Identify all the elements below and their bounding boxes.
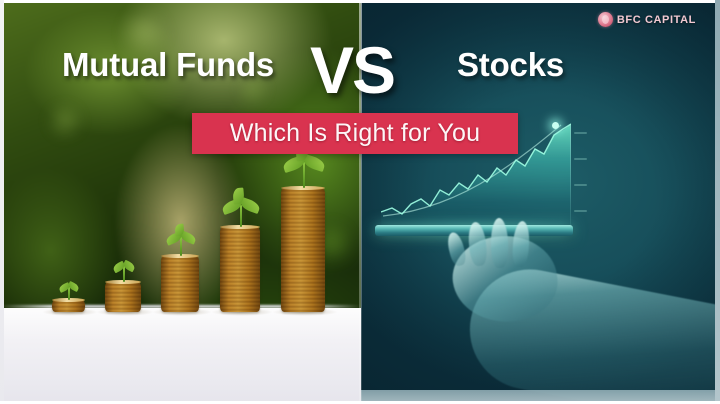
brand-name: BFC CAPITAL bbox=[617, 14, 696, 26]
chart-tick bbox=[574, 158, 587, 160]
frame-top bbox=[0, 0, 720, 3]
seedling-icon bbox=[58, 278, 80, 300]
brand-emblem-icon bbox=[598, 12, 613, 27]
coin-stack bbox=[105, 282, 141, 312]
seedling-icon bbox=[166, 224, 196, 256]
seedling-icon bbox=[112, 256, 136, 282]
comparison-banner: Mutual Funds VS Stocks Which Is Right fo… bbox=[0, 0, 720, 404]
brand-logo[interactable]: BFC CAPITAL bbox=[598, 12, 696, 27]
coin-stack bbox=[52, 300, 85, 312]
white-table-surface bbox=[0, 308, 361, 404]
mutual-funds-panel bbox=[0, 0, 361, 404]
coin-stack bbox=[161, 256, 199, 312]
chart-tick bbox=[574, 210, 587, 212]
frame-left bbox=[0, 0, 4, 404]
subtitle-banner: Which Is Right for You bbox=[192, 113, 518, 154]
frame-right bbox=[715, 0, 720, 404]
seedling-icon bbox=[222, 187, 260, 227]
chart-tick bbox=[574, 132, 587, 134]
subtitle-text: Which Is Right for You bbox=[230, 119, 480, 148]
chart-peak-marker bbox=[552, 122, 559, 129]
chart-axis bbox=[570, 124, 571, 228]
panel-divider bbox=[359, 0, 362, 404]
coin-stack bbox=[281, 188, 325, 312]
stocks-panel bbox=[361, 0, 720, 404]
coin-stack bbox=[220, 227, 260, 312]
chart-tick bbox=[574, 184, 587, 186]
